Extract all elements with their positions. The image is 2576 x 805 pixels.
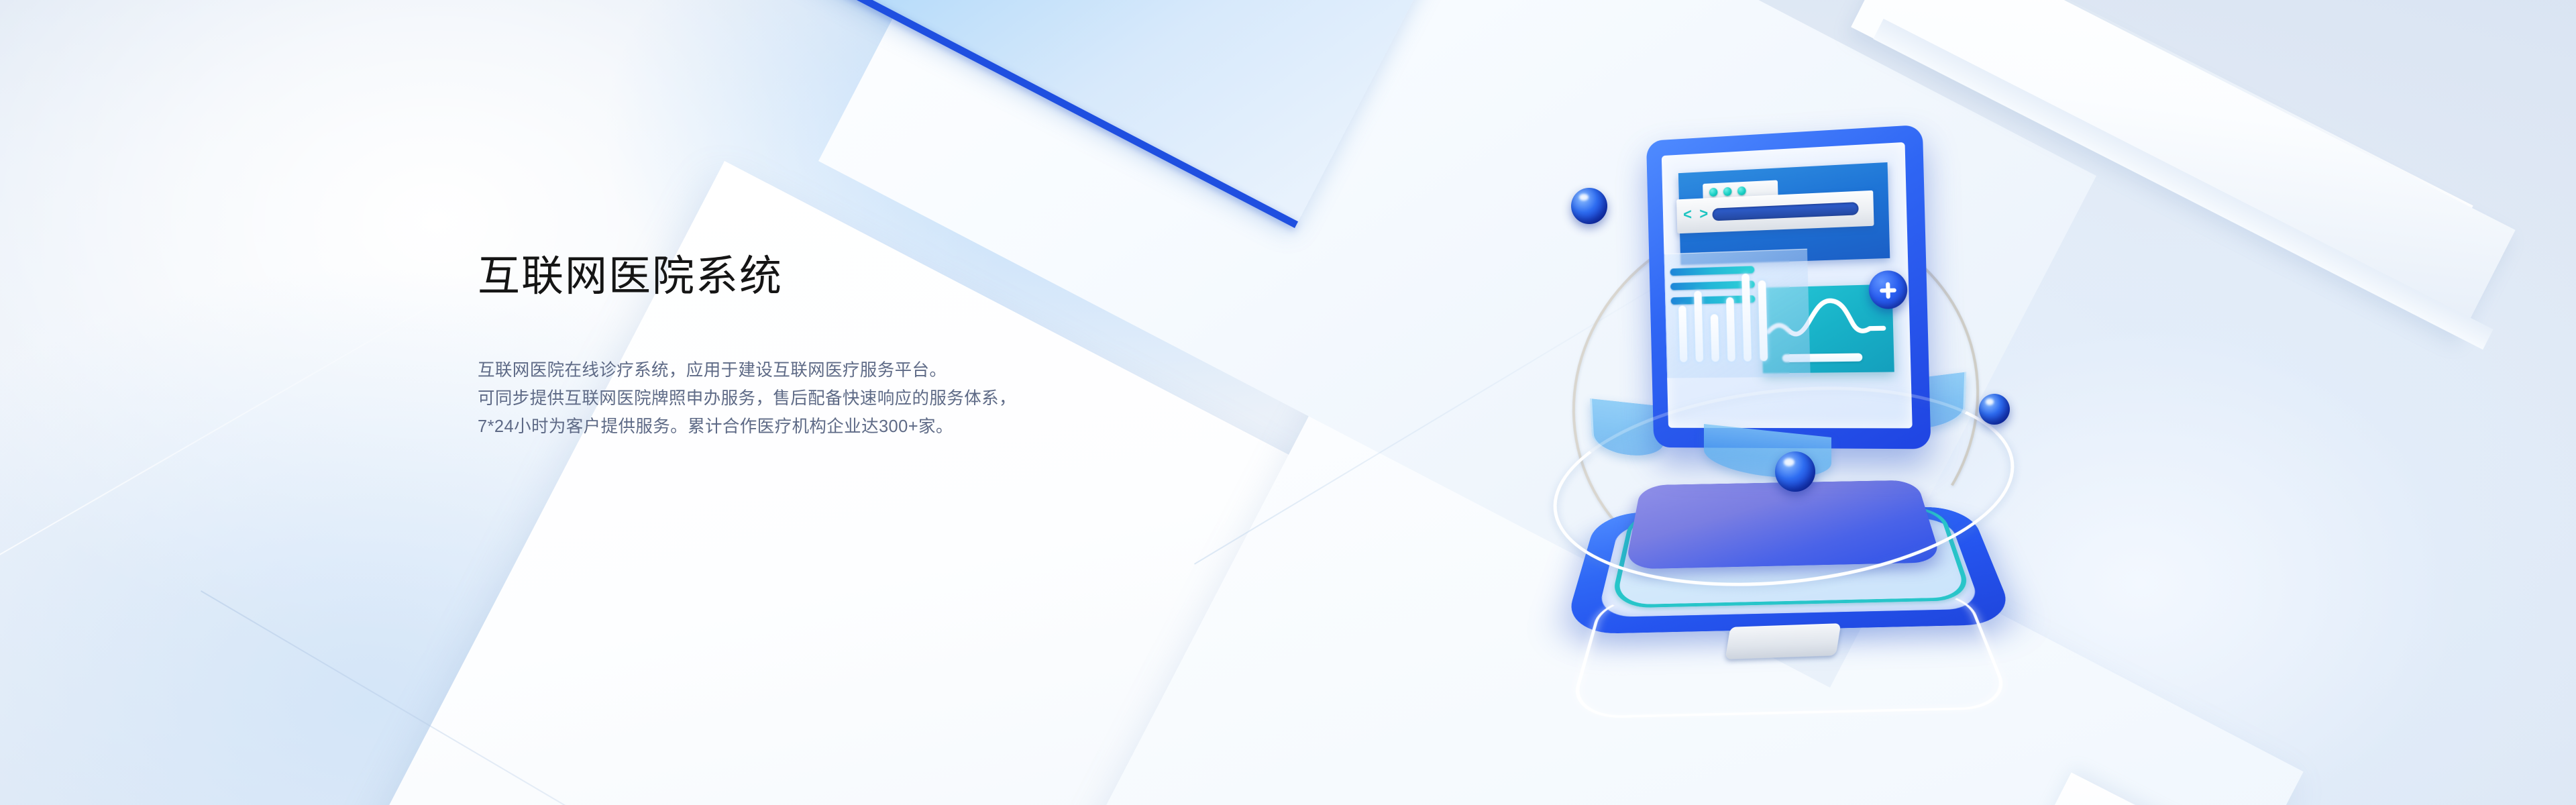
- description-line-2: 可同步提供互联网医院牌照申办服务，售后配备快速响应的服务体系，: [478, 384, 1256, 413]
- base-front-tab: [1725, 623, 1841, 659]
- bar-chart-bar: [1678, 306, 1687, 362]
- orbit-sphere-center: [1775, 451, 1815, 492]
- page-title: 互联网医院系统: [478, 254, 1256, 299]
- hero-text-block: 互联网医院系统 互联网医院在线诊疗系统，应用于建设互联网医疗服务平台。 可同步提…: [478, 254, 1256, 441]
- background-crease-b: [201, 590, 953, 805]
- hero-banner: 互联网医院系统 互联网医院在线诊疗系统，应用于建设互联网医疗服务平台。 可同步提…: [0, 0, 2576, 805]
- hero-description: 互联网医院在线诊疗系统，应用于建设互联网医疗服务平台。 可同步提供互联网医院牌照…: [478, 356, 1256, 441]
- background-bar-bottom-right: [2007, 772, 2576, 805]
- background-slab-blue: [426, 0, 1574, 228]
- bar-chart-bar: [1726, 297, 1735, 362]
- background-slab-blue-edge: [426, 0, 1574, 228]
- description-line-1: 互联网医院在线诊疗系统，应用于建设互联网医疗服务平台。: [478, 356, 1256, 384]
- orbit-sphere-right: [1979, 394, 2010, 425]
- bar-chart-bar: [1758, 280, 1768, 362]
- medical-plus-icon: [1868, 270, 1908, 309]
- code-brackets-icon: < >: [1683, 206, 1710, 224]
- description-line-3: 7*24小时为客户提供服务。累计合作医疗机构企业达300+家。: [478, 413, 1256, 441]
- background-slab-blue-highlight: [426, 0, 1574, 228]
- hero-illustration: < >: [1536, 141, 2046, 671]
- background-crease-a: [0, 241, 541, 578]
- glass-data-panel: [1662, 249, 1811, 378]
- bar-chart-bar: [1711, 314, 1719, 362]
- orbit-sphere-left: [1571, 188, 1607, 224]
- monitor-screen: < >: [1662, 142, 1913, 429]
